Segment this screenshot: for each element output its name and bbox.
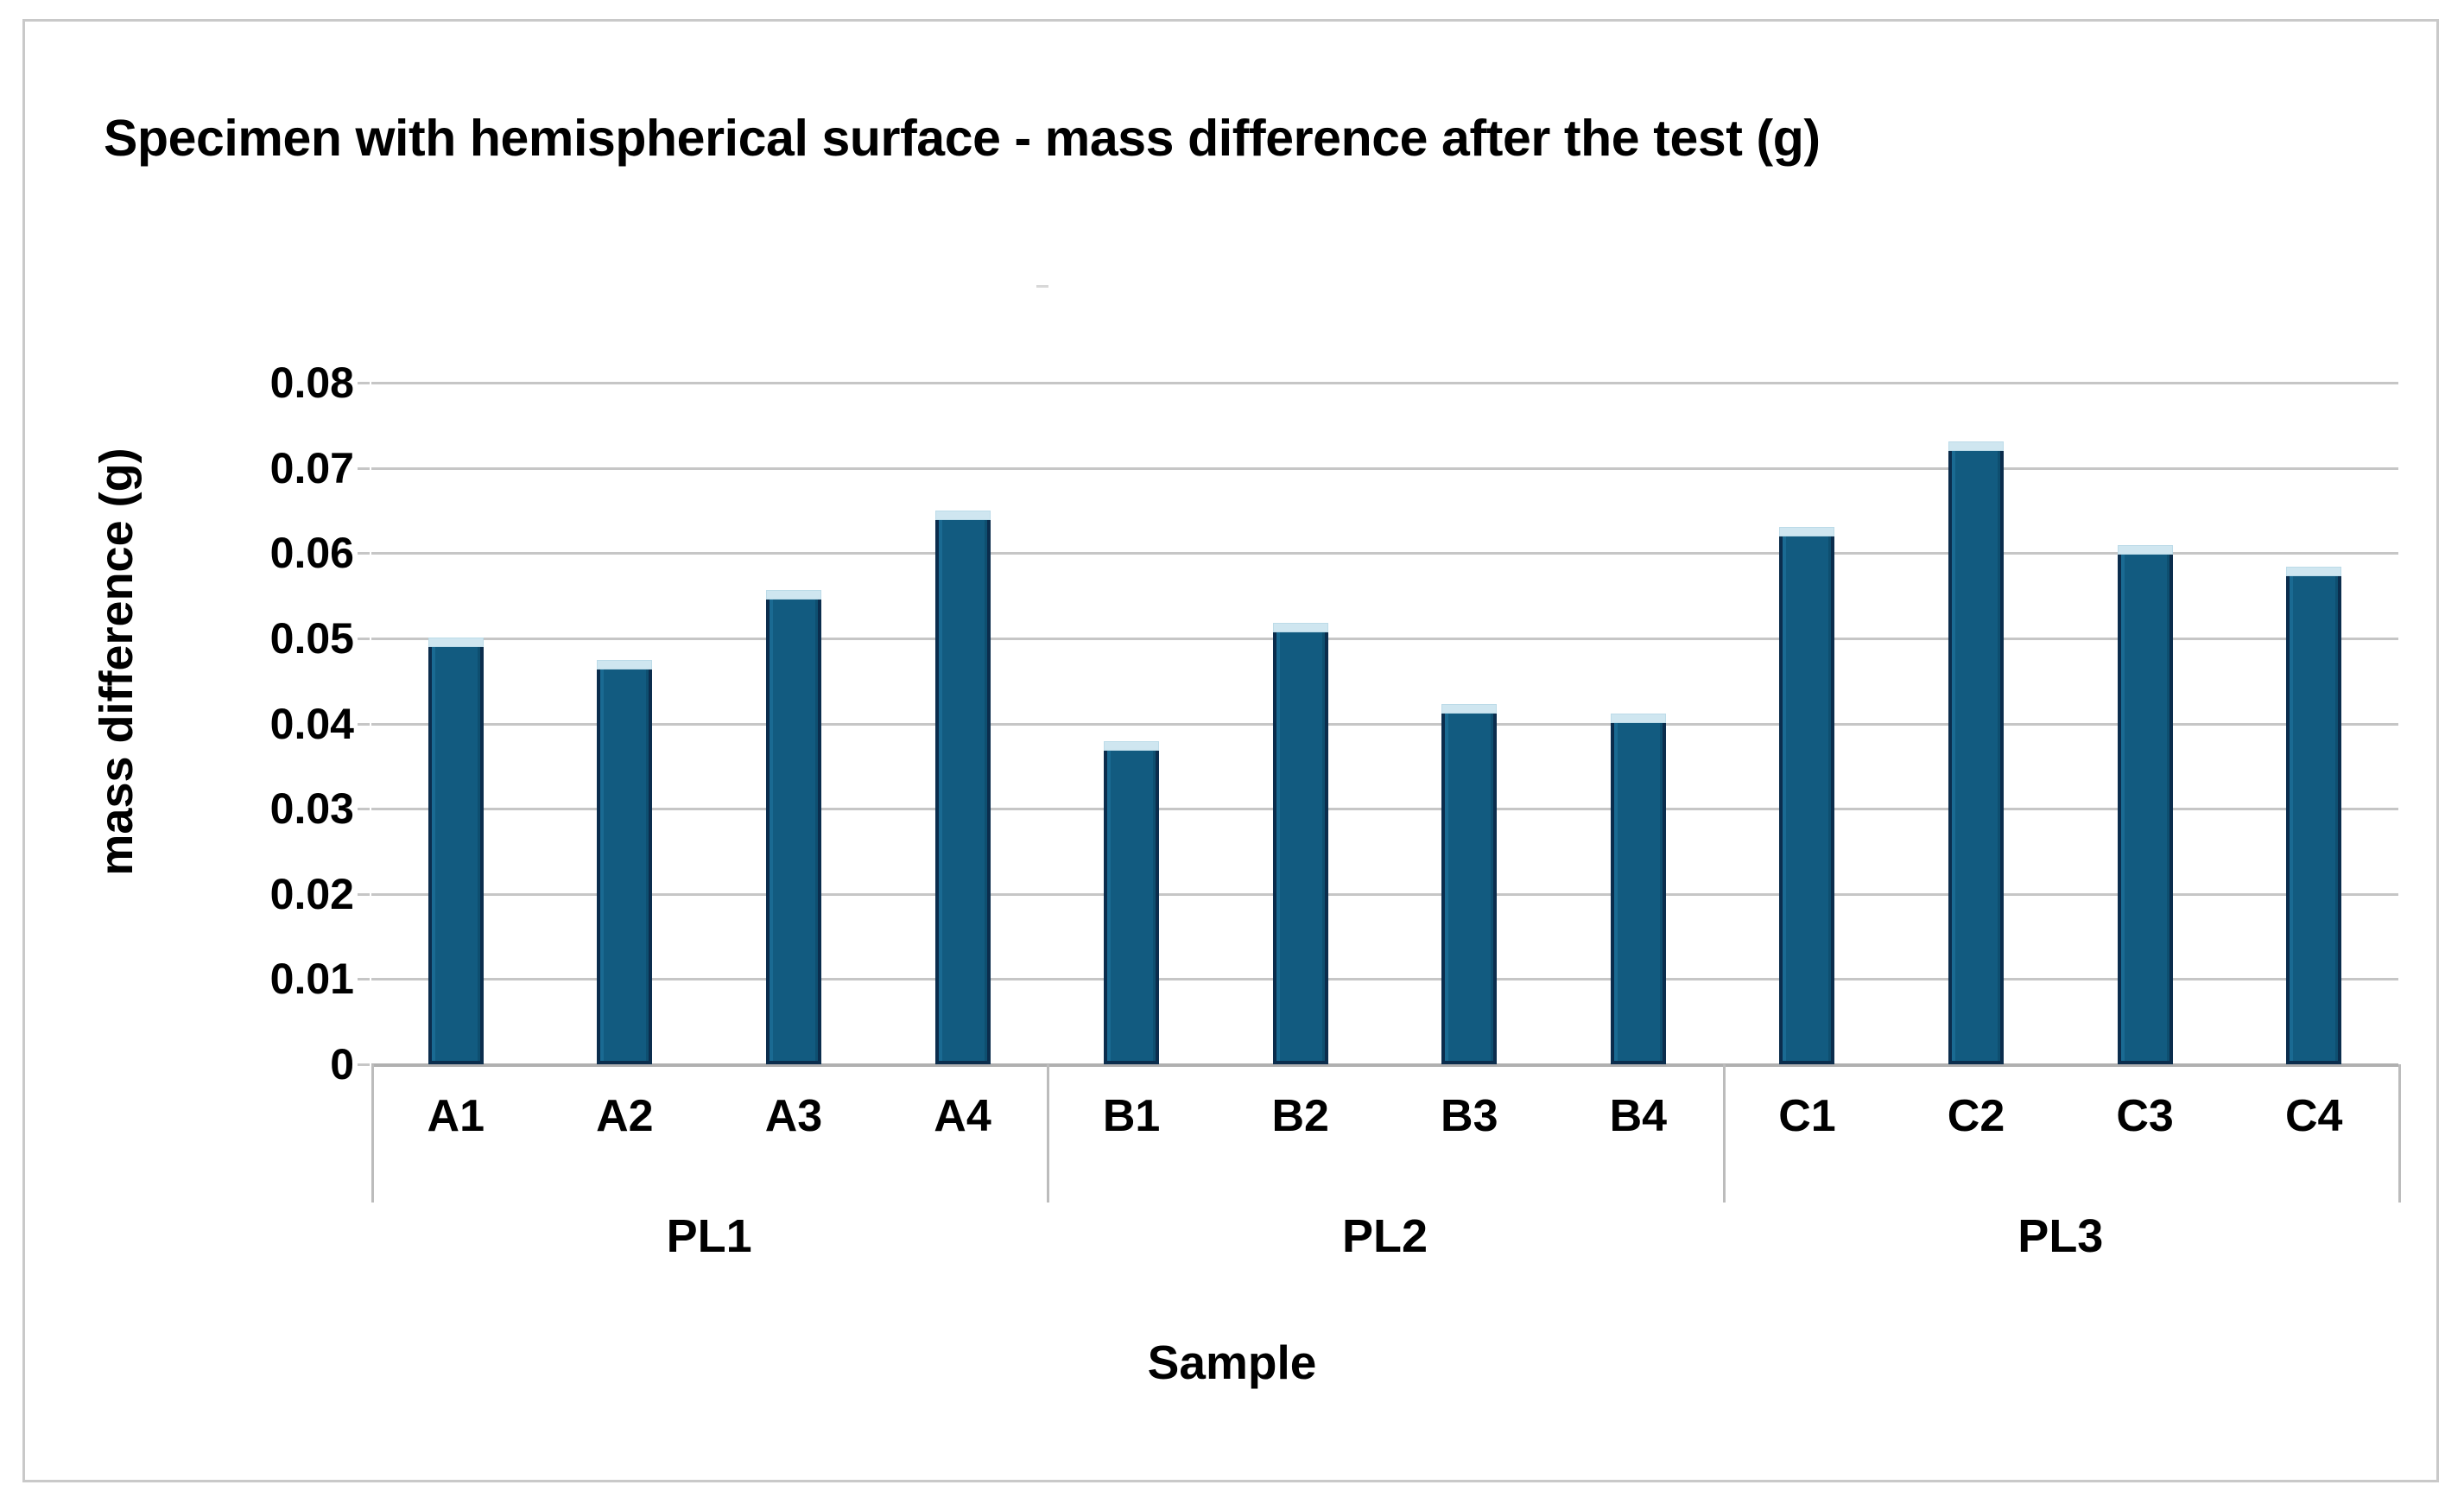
group-separator-tick [371,1064,374,1203]
x-axis-category-label-A1: A1 [370,1090,542,1142]
group-label-PL1: PL1 [528,1209,890,1263]
bar-C4 [2286,573,2341,1064]
gridline [371,638,2398,640]
group-separator-tick [1723,1064,1726,1203]
bar-highlight-cap [1611,714,1666,723]
x-axis-category-label-A2: A2 [538,1090,711,1142]
x-axis-category-label-C4: C4 [2227,1090,2400,1142]
bar-highlight-cap [1273,623,1328,632]
bar-C1 [1779,533,1834,1064]
y-axis-tick-mark [358,978,370,980]
bar-highlight-cap [1779,527,1834,536]
x-axis-title: Sample [0,1335,2464,1390]
gridline [371,552,2398,555]
x-axis-category-label-A4: A4 [877,1090,1049,1142]
bar-C3 [2118,551,2173,1064]
gridline [371,382,2398,384]
bar-B3 [1441,710,1497,1064]
gridline [371,893,2398,896]
bar-C2 [1948,447,2004,1064]
x-axis-category-label-C2: C2 [1890,1090,2062,1142]
bar-highlight-cap [935,511,991,520]
gridline [371,723,2398,726]
y-axis-tick-label: 0.06 [207,528,354,578]
group-separator-tick [2398,1064,2401,1203]
bar-B4 [1611,720,1666,1064]
y-axis-tick-label: 0.03 [207,784,354,834]
group-separator-tick [1047,1064,1049,1203]
gridline [371,1063,2398,1067]
x-axis-category-label-B1: B1 [1045,1090,1218,1142]
chart-title: Specimen with hemispherical surface - ma… [104,109,2366,168]
x-axis-category-label-C1: C1 [1720,1090,1893,1142]
y-axis-tick-mark [358,808,370,810]
gridline [371,467,2398,470]
x-axis-category-label-B4: B4 [1552,1090,1725,1142]
bar-highlight-cap [2286,567,2341,576]
gridline [371,808,2398,810]
x-axis-category-label-B3: B3 [1383,1090,1555,1142]
y-axis-tick-mark [358,1063,370,1066]
stray-tick-mark [1036,285,1048,288]
bar-highlight-cap [428,638,484,647]
bar-highlight-cap [597,660,652,670]
y-axis-tick-label: 0.04 [207,699,354,749]
x-axis-category-label-B2: B2 [1214,1090,1387,1142]
group-label-PL3: PL3 [1879,1209,2242,1263]
y-axis-tick-label: 0.08 [207,358,354,408]
x-axis-category-label-C3: C3 [2059,1090,2232,1142]
y-axis-tick-mark [358,893,370,896]
y-axis-tick-label: 0.01 [207,954,354,1004]
plot-area [371,383,2398,1064]
chart-figure: Specimen with hemispherical surface - ma… [0,0,2464,1504]
y-axis-tick-mark [358,638,370,640]
y-axis-tick-mark [358,467,370,470]
y-axis-title: mass difference (g) [90,333,143,990]
bar-A2 [597,666,652,1064]
y-axis-tick-label: 0.02 [207,869,354,919]
bar-A4 [935,517,991,1064]
bar-A1 [428,644,484,1064]
group-label-PL2: PL2 [1204,1209,1567,1263]
y-axis-tick-label: 0 [207,1039,354,1089]
y-axis-tick-mark [358,382,370,384]
x-axis-category-label-A3: A3 [707,1090,880,1142]
y-axis-tick-mark [358,552,370,555]
bar-B1 [1104,747,1159,1064]
bar-highlight-cap [2118,545,2173,555]
gridline [371,978,2398,980]
bar-B2 [1273,629,1328,1064]
y-axis-tick-mark [358,723,370,726]
bar-highlight-cap [1948,441,2004,451]
y-axis-tick-label: 0.05 [207,613,354,663]
bar-A3 [766,596,821,1064]
y-axis-tick-label: 0.07 [207,443,354,493]
bar-highlight-cap [1104,741,1159,751]
bar-highlight-cap [1441,704,1497,714]
bar-highlight-cap [766,590,821,600]
